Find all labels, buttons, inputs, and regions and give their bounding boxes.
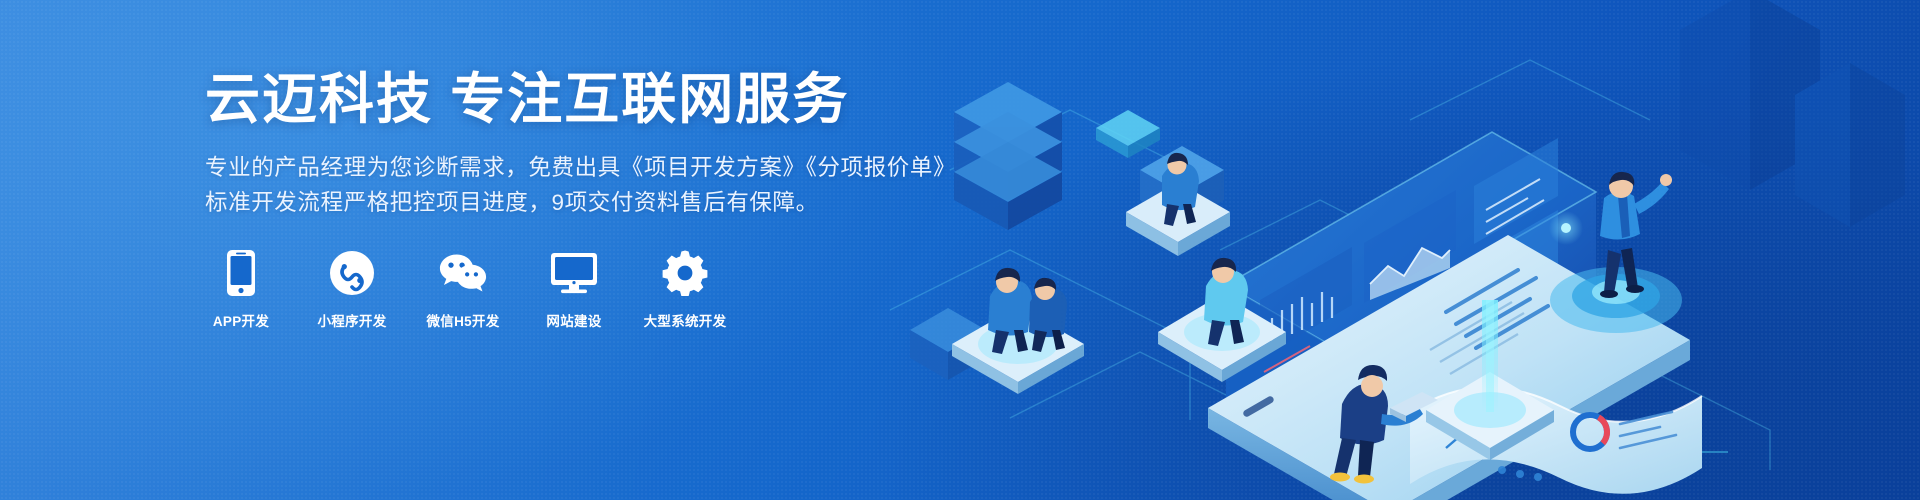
service-item-mini-program[interactable]: 小程序开发 bbox=[316, 249, 388, 330]
floating-chip bbox=[1096, 110, 1160, 158]
service-label-large-system: 大型系统开发 bbox=[644, 310, 727, 330]
service-item-app[interactable]: APP开发 bbox=[205, 249, 277, 330]
service-item-website[interactable]: 网站建设 bbox=[538, 249, 610, 330]
gear-icon bbox=[661, 249, 709, 297]
service-item-wechat[interactable]: 微信H5开发 bbox=[427, 249, 499, 330]
platform-left bbox=[952, 306, 1084, 394]
service-label-website: 网站建设 bbox=[546, 310, 601, 330]
monitor-icon bbox=[550, 249, 598, 297]
subtitle-line-1: 专业的产品经理为您诊断需求，免费出具《项目开发方案》《分项报价单》 bbox=[205, 150, 956, 185]
hero-banner: 云迈科技 专注互联网服务 专业的产品经理为您诊断需求，免费出具《项目开发方案》《… bbox=[0, 0, 1920, 500]
subtitle-line-2: 标准开发流程严格把控项目进度，9项交付资料售后有保障。 bbox=[205, 185, 956, 220]
service-item-large-system[interactable]: 大型系统开发 bbox=[649, 249, 721, 330]
service-list: APP开发 小程序开发 bbox=[205, 249, 956, 330]
person-left-pair bbox=[988, 268, 1067, 354]
person-upper-right bbox=[1162, 153, 1199, 226]
platform-upper-right bbox=[1126, 182, 1230, 256]
isometric-illustration bbox=[890, 0, 1920, 500]
platform-far-right bbox=[1426, 300, 1554, 460]
person-right bbox=[1204, 258, 1248, 346]
mobile-phone-icon bbox=[217, 249, 265, 297]
page-title: 云迈科技 专注互联网服务 bbox=[205, 68, 956, 131]
service-label-wechat: 微信H5开发 bbox=[426, 310, 499, 330]
platform-right bbox=[1158, 294, 1286, 382]
service-label-app: APP开发 bbox=[213, 310, 269, 330]
person-seated bbox=[1330, 365, 1438, 484]
wechat-icon bbox=[439, 249, 487, 297]
mini-program-icon bbox=[328, 249, 376, 297]
service-label-mini-program: 小程序开发 bbox=[318, 310, 387, 330]
banner-content: 云迈科技 专注互联网服务 专业的产品经理为您诊断需求，免费出具《项目开发方案》《… bbox=[205, 0, 956, 330]
subtitle-block: 专业的产品经理为您诊断需求，免费出具《项目开发方案》《分项报价单》 标准开发流程… bbox=[205, 150, 956, 220]
person-presenter bbox=[1600, 172, 1672, 298]
